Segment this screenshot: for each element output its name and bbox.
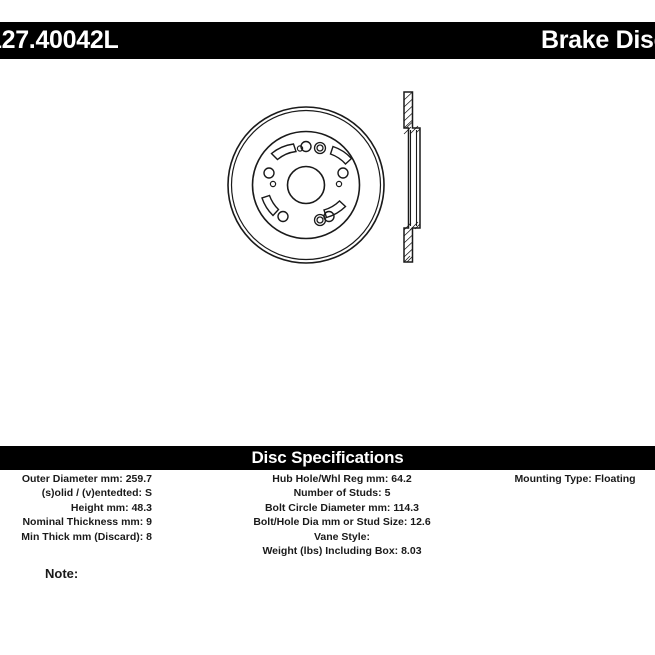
spec-value: 5	[385, 487, 391, 499]
spec-value: 9	[146, 516, 152, 528]
retaining-screw-hole-top	[315, 143, 326, 154]
spec-label: Hub Hole/Whl Reg mm:	[272, 473, 388, 485]
spec-value: 64.2	[391, 473, 411, 485]
spec-label: Min Thick mm (Discard):	[21, 531, 143, 543]
section-hatch-lower	[404, 228, 413, 262]
note-block: Note:	[45, 566, 82, 581]
spec-value: 114.3	[393, 502, 419, 514]
spec-value: 8.03	[401, 545, 421, 557]
spec-row: Number of Studs: 5	[181, 486, 503, 500]
spec-label: Bolt Circle Diameter mm:	[265, 502, 390, 514]
hat-relief-slot-bottom-right	[324, 201, 346, 218]
spec-row: Height mm: 48.3	[0, 501, 152, 515]
part-number-label: 127.40042L	[0, 26, 118, 55]
spec-label: Weight (lbs) Including Box:	[262, 545, 398, 557]
note-label: Note:	[45, 566, 78, 581]
spec-column-right: Mounting Type: Floating	[455, 472, 655, 486]
spec-row: Vane Style:	[181, 530, 503, 544]
rotor-face-view	[228, 107, 384, 263]
spec-value: S	[145, 487, 152, 499]
rotor-center-bore-circle	[288, 167, 325, 204]
lug-hole-group	[264, 142, 348, 222]
disc-specifications-title: Disc Specifications	[0, 448, 655, 468]
rotor-cross-section-view	[404, 92, 420, 262]
spec-label: Outer Diameter mm:	[22, 473, 123, 485]
pilot-dot-left	[270, 181, 275, 186]
rotor-outer-edge-circle	[228, 107, 384, 263]
spec-label: Mounting Type:	[514, 473, 591, 485]
lug-hole-2	[338, 168, 348, 178]
spec-row: Min Thick mm (Discard): 8	[0, 530, 152, 544]
spec-column-left: Outer Diameter mm: 259.7 (s)olid / (v)en…	[0, 472, 152, 544]
section-outline	[404, 92, 420, 262]
spec-label: Nominal Thickness mm:	[22, 516, 143, 528]
spec-label: Vane Style:	[314, 531, 370, 543]
spec-value: 259.7	[126, 473, 152, 485]
spec-row: Bolt/Hole Dia mm or Stud Size: 12.6	[181, 515, 503, 529]
spec-label: Bolt/Hole Dia mm or Stud Size:	[253, 516, 407, 528]
note-value	[78, 566, 82, 581]
spec-label: Height mm:	[71, 502, 129, 514]
spec-label: (s)olid / (v)entedted:	[42, 487, 142, 499]
spec-row: Outer Diameter mm: 259.7	[0, 472, 152, 486]
hat-relief-slot-top-right	[331, 147, 352, 165]
retaining-screw-hole-bottom-inner	[317, 217, 323, 223]
spec-row: Nominal Thickness mm: 9	[0, 515, 152, 529]
spec-row: Weight (lbs) Including Box: 8.03	[181, 544, 503, 558]
retaining-screw-hole-bottom	[315, 215, 326, 226]
pilot-dot-right	[336, 181, 341, 186]
lug-hole-4	[278, 212, 288, 222]
spec-value: Floating	[595, 473, 636, 485]
spec-value: 12.6	[410, 516, 430, 528]
rotor-friction-ring-circle	[232, 111, 381, 260]
lug-hole-5	[264, 168, 274, 178]
spec-row: Mounting Type: Floating	[455, 472, 655, 486]
product-title-label: Brake Disc	[541, 26, 655, 55]
section-hatch-upper	[404, 92, 413, 128]
brake-rotor-drawing	[0, 60, 655, 442]
header-bar: 127.40042L Brake Disc	[0, 22, 655, 59]
hat-relief-slots	[262, 144, 352, 218]
specifications-columns: Outer Diameter mm: 259.7 (s)olid / (v)en…	[0, 472, 655, 562]
retaining-screw-hole-top-inner	[317, 145, 323, 151]
spec-row: Bolt Circle Diameter mm: 114.3	[181, 501, 503, 515]
drawing-area	[0, 60, 655, 442]
spec-value: 8	[146, 531, 152, 543]
spec-row: (s)olid / (v)entedted: S	[0, 486, 152, 500]
spec-value: 48.3	[132, 502, 152, 514]
hat-relief-slot-bottom-left	[262, 196, 279, 216]
rotor-hat-outer-circle	[253, 132, 360, 239]
hat-relief-slot-top-left	[272, 144, 297, 160]
section-hat-wall	[411, 130, 417, 226]
disc-specifications-bar: Disc Specifications	[0, 446, 655, 470]
spec-label: Number of Studs:	[294, 487, 382, 499]
